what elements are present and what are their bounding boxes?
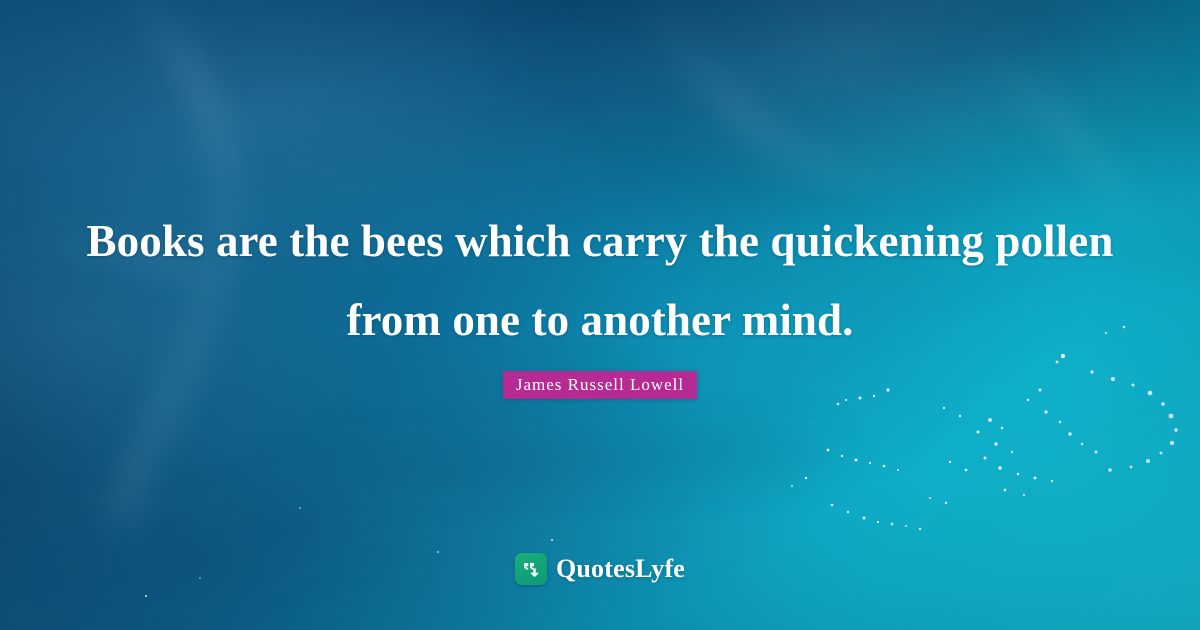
quote-content: Books are the bees which carry the quick…: [0, 0, 1200, 630]
author-attribution: James Russell Lowell: [0, 371, 1200, 399]
quote-text: Books are the bees which carry the quick…: [70, 202, 1130, 360]
quote-card: Books are the bees which carry the quick…: [0, 0, 1200, 630]
quote-mark-icon: [515, 553, 547, 585]
brand-logo: QuotesLyfe: [0, 553, 1200, 585]
brand-name: QuotesLyfe: [556, 553, 685, 585]
author-name-badge: James Russell Lowell: [503, 371, 697, 399]
